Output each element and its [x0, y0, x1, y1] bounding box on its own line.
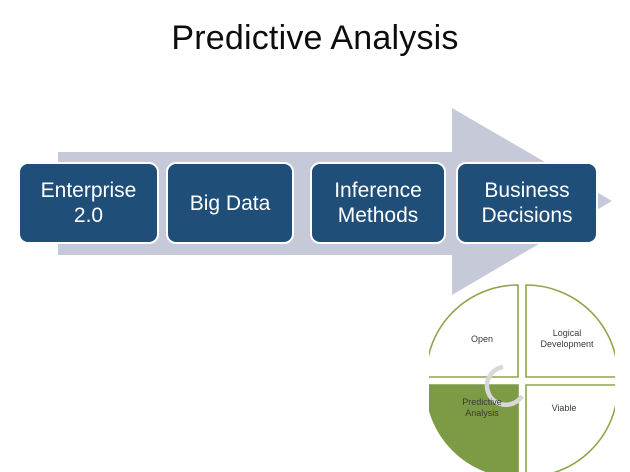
stage-label: Big Data: [174, 191, 286, 216]
page-title: Predictive Analysis: [0, 17, 630, 59]
stage-box-inference-methods[interactable]: Inference Methods: [310, 162, 446, 244]
quadrant-diagram: Open Logical Development Predictive Anal…: [429, 281, 615, 472]
stage-label: Inference Methods: [318, 178, 438, 228]
quadrant-svg: [429, 281, 615, 472]
slide-canvas: Predictive Analysis Enterprise 2.0 Big D…: [0, 0, 630, 472]
stage-box-business-decisions[interactable]: Business Decisions: [456, 162, 598, 244]
quadrant-label-open: Open: [451, 334, 513, 345]
stage-box-big-data[interactable]: Big Data: [166, 162, 294, 244]
quadrant-label-logical-development: Logical Development: [529, 328, 605, 350]
quadrant-slice-viable[interactable]: [526, 385, 615, 472]
stage-label: Business Decisions: [464, 178, 590, 228]
stage-label: Enterprise 2.0: [26, 178, 151, 228]
quadrant-slice-open[interactable]: [429, 285, 518, 377]
quadrant-label-predictive-analysis: Predictive Analysis: [449, 397, 515, 419]
stage-box-enterprise[interactable]: Enterprise 2.0: [18, 162, 159, 244]
quadrant-label-viable: Viable: [533, 403, 595, 414]
